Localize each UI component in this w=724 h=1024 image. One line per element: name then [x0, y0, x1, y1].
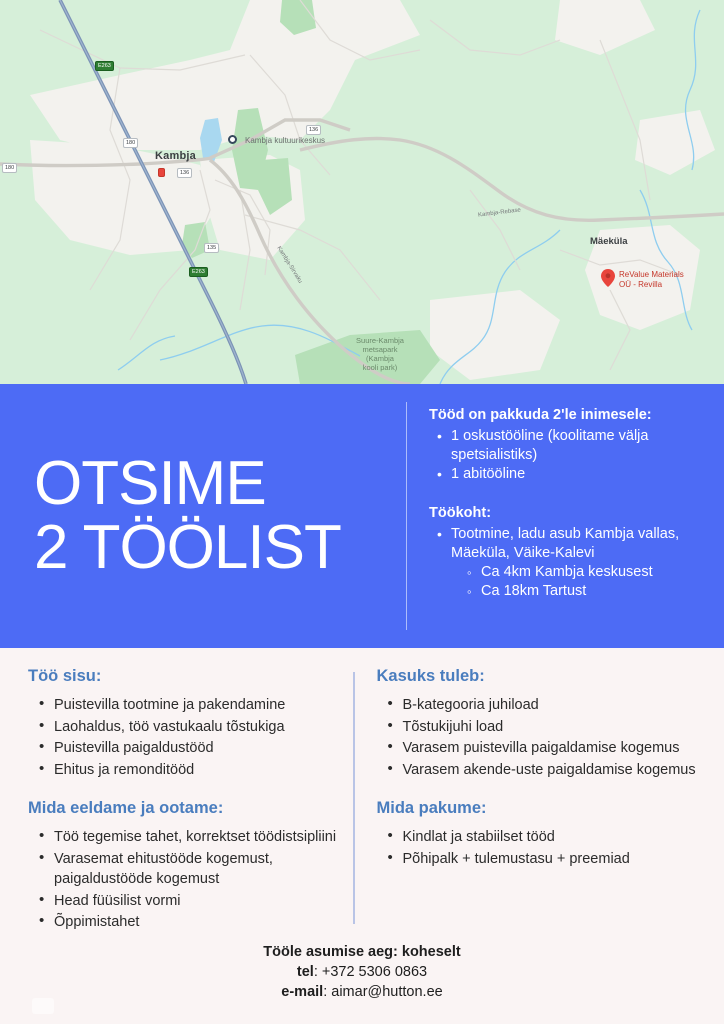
list-item: Põhipalk + tulemustasu + preemiad	[385, 849, 711, 870]
list-item: Õppimistahet	[36, 912, 343, 933]
hero-headline-line-2: 2 TÖÖLIST	[34, 516, 406, 580]
list-item: Puistevilla tootmine ja pakendamine	[36, 695, 343, 716]
list-item: Varasemat ehitustööde kogemust, paigaldu…	[36, 849, 343, 890]
section-heading-offer: Mida pakume:	[377, 798, 711, 819]
list-item: Ca 18km Tartust	[465, 582, 708, 601]
map-shield-135: 135	[204, 243, 219, 253]
expectations-heading-colon: :	[218, 799, 224, 817]
offer-heading-colon: :	[481, 799, 487, 817]
list-item: Ca 4km Kambja keskusest	[465, 563, 708, 582]
map-shield-180-a: 180	[123, 138, 138, 148]
list-item: B-kategooria juhiload	[385, 695, 711, 716]
job-advert-poster: Kambja Mäeküla Kambja kultuurikeskus Suu…	[0, 0, 724, 1024]
expectations-heading-text: Mida eeldame ja ootame	[28, 799, 218, 817]
list-item: Tootmine, ladu asub Kambja vallas, Mäekü…	[435, 525, 708, 601]
hero-details-block: Tööd on pakkuda 2'le inimesele: 1 oskust…	[407, 384, 724, 648]
offer-heading-text: Mida pakume	[377, 799, 482, 817]
map-shield-136-b: 136	[177, 168, 192, 178]
expectations-list: Töö tegemise tahet, korrektset töödistsi…	[36, 827, 343, 933]
advantages-list: B-kategooria juhiload Tõstukijuhi load V…	[385, 695, 711, 780]
telephone-label: tel	[297, 964, 314, 980]
start-date-label: Tööle asumise aeg: koheselt	[0, 942, 724, 962]
job-content-list: Puistevilla tootmine ja pakendamine Laoh…	[36, 695, 343, 780]
details-section: Töö sisu: Puistevilla tootmine ja pakend…	[0, 648, 724, 1024]
contact-footer: Tööle asumise aeg: koheselt tel: +372 53…	[0, 942, 724, 1002]
hero-headline-block: OTSIME 2 TÖÖLIST	[0, 384, 406, 648]
workplace-heading-text: Töökoht	[429, 505, 486, 521]
hero-section-heading-jobs: Tööd on pakkuda 2'le inimesele:	[429, 406, 708, 425]
hero-spacer	[429, 484, 708, 504]
telephone-row[interactable]: tel: +372 5306 0863	[0, 962, 724, 982]
details-left-column: Töö sisu: Puistevilla tootmine ja pakend…	[0, 664, 353, 938]
list-item: Ehitus ja remonditööd	[36, 760, 343, 781]
email-row[interactable]: e-mail: aimar@hutton.ee	[0, 982, 724, 1002]
offer-list: Kindlat ja stabiilset tööd Põhipalk + tu…	[385, 827, 711, 869]
hero-banner: OTSIME 2 TÖÖLIST Tööd on pakkuda 2'le in…	[0, 384, 724, 648]
email-label: e-mail	[281, 984, 323, 1000]
list-item: Puistevilla paigaldustööd	[36, 738, 343, 759]
list-item: Laohaldus, töö vastukaalu tõstukiga	[36, 717, 343, 738]
map-shield-marker	[158, 168, 165, 177]
hero-section-heading-workplace: Töökoht:	[429, 504, 708, 523]
map-shield-e263-south: E263	[189, 267, 208, 277]
list-item: Kindlat ja stabiilset tööd	[385, 827, 711, 848]
map-shield-180-b: 180	[2, 163, 17, 173]
map-shield-e263-north: E263	[95, 61, 114, 71]
job-content-heading-text: Töö sisu	[28, 667, 96, 685]
hero-workplace-sublist: Ca 4km Kambja keskusest Ca 18km Tartust	[465, 563, 708, 601]
list-item: Tõstukijuhi load	[385, 717, 711, 738]
email-value[interactable]: : aimar@hutton.ee	[323, 984, 443, 1000]
list-item: Varasem akende-uste paigaldamise kogemus	[385, 760, 711, 781]
section-heading-expectations: Mida eeldame ja ootame:	[28, 798, 343, 819]
map-vector	[0, 0, 724, 384]
advantages-heading-text: Kasuks tuleb	[377, 667, 480, 685]
list-item: Töö tegemise tahet, korrektset töödistsi…	[36, 827, 343, 848]
hero-workplace-list: Tootmine, ladu asub Kambja vallas, Mäekü…	[435, 525, 708, 601]
details-columns: Töö sisu: Puistevilla tootmine ja pakend…	[0, 648, 724, 938]
hero-headline-line-1: OTSIME	[34, 452, 406, 516]
workplace-heading-colon: :	[486, 505, 491, 521]
list-item: Head füüsilist vormi	[36, 891, 343, 912]
list-item: Varasem puistevilla paigaldamise kogemus	[385, 738, 711, 759]
map-pin-icon[interactable]	[601, 269, 615, 287]
job-content-heading-colon: :	[96, 667, 102, 685]
map-shield-136-a: 136	[306, 125, 321, 135]
poi-marker-icon	[228, 135, 237, 144]
workplace-item-text: Tootmine, ladu asub Kambja vallas, Mäekü…	[451, 526, 679, 561]
hero-jobs-list: 1 oskustööline (koolitame välja spetsial…	[435, 427, 708, 484]
list-item: 1 abitööline	[435, 465, 708, 484]
section-heading-advantages: Kasuks tuleb:	[377, 666, 711, 687]
location-map[interactable]: Kambja Mäeküla Kambja kultuurikeskus Suu…	[0, 0, 724, 384]
telephone-value[interactable]: : +372 5306 0863	[314, 964, 427, 980]
list-item: 1 oskustööline (koolitame välja spetsial…	[435, 427, 708, 465]
watermark-icon	[32, 998, 54, 1014]
section-heading-job-content: Töö sisu:	[28, 666, 343, 687]
details-right-column: Kasuks tuleb: B-kategooria juhiload Tõst…	[355, 664, 724, 938]
advantages-heading-colon: :	[479, 667, 485, 685]
